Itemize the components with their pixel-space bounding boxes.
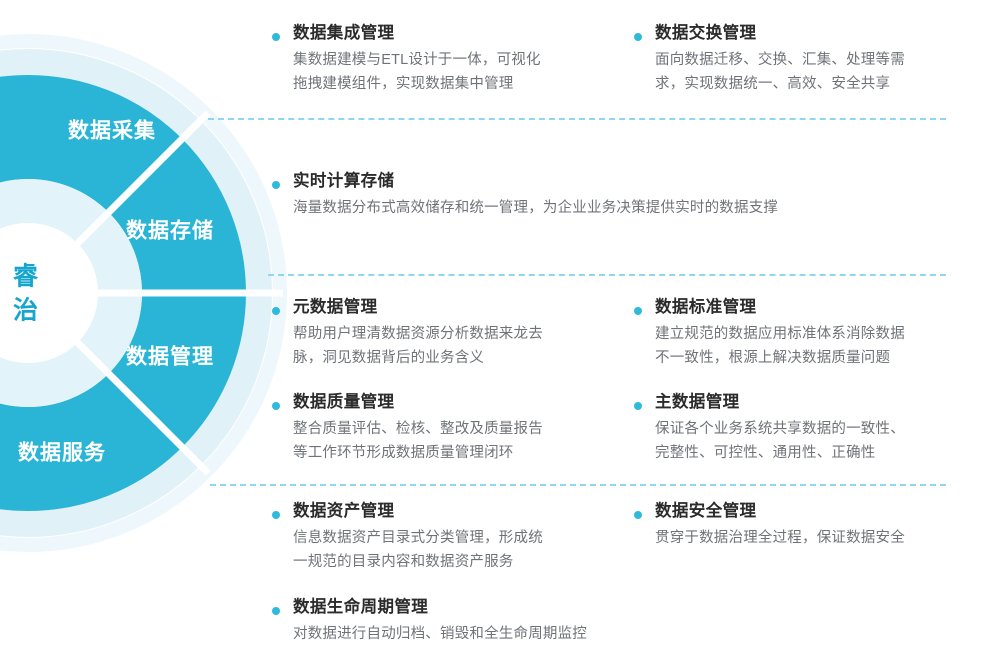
item-title: 主数据管理 — [655, 391, 984, 413]
item-description-line: 一规范的目录内容和数据资产服务 — [293, 551, 622, 574]
item-description: 集数据建模与ETL设计于一体，可视化 拖拽建模组件，实现数据集中管理 — [293, 49, 622, 96]
item-title: 数据集成管理 — [293, 22, 622, 44]
item-title: 数据生命周期管理 — [293, 596, 692, 618]
list-item: 数据安全管理 贯穿于数据治理全过程，保证数据安全 — [634, 500, 984, 551]
list-item: 数据资产管理 信息数据资产目录式分类管理，形成统 一规范的目录内容和数据资产服务 — [272, 500, 622, 574]
item-title: 数据标准管理 — [655, 296, 984, 318]
bullet-icon — [634, 307, 642, 315]
item-description-line: 集数据建模与ETL设计于一体，可视化 — [293, 49, 622, 72]
item-title: 数据交换管理 — [655, 22, 984, 44]
item-description-line: 保证各个业务系统共享数据的一致性、 — [655, 418, 984, 441]
item-title: 实时计算存储 — [293, 170, 972, 192]
list-item: 元数据管理 帮助用户理清数据资源分析数据来龙去 脉，洞见数据背后的业务含义 — [272, 296, 622, 370]
section-divider — [268, 274, 946, 276]
section-divider — [210, 484, 946, 486]
item-description: 保证各个业务系统共享数据的一致性、 完整性、可控性、通用性、正确性 — [655, 418, 984, 465]
item-description-line: 信息数据资产目录式分类管理，形成统 — [293, 527, 622, 550]
item-description: 海量数据分布式高效储存和统一管理，为企业业务决策提供实时的数据支撑 — [293, 197, 972, 220]
list-item: 数据交换管理 面向数据迁移、交换、汇集、处理等需 求，实现数据统一、高效、安全共… — [634, 22, 984, 96]
bullet-icon — [634, 33, 642, 41]
bullet-icon — [634, 402, 642, 410]
item-description-line: 等工作环节形成数据质量管理闭环 — [293, 442, 622, 465]
item-description: 贯穿于数据治理全过程，保证数据安全 — [655, 527, 984, 550]
item-description-line: 完整性、可控性、通用性、正确性 — [655, 442, 984, 465]
list-item: 数据标准管理 建立规范的数据应用标准体系消除数据 不一致性，根源上解决数据质量问… — [634, 296, 984, 370]
item-description-line: 整合质量评估、检核、整改及质量报告 — [293, 418, 622, 441]
item-description-line: 求，实现数据统一、高效、安全共享 — [655, 73, 984, 96]
item-description: 对数据进行自动归档、销毁和全生命周期监控 — [293, 623, 692, 646]
item-title: 数据安全管理 — [655, 500, 984, 522]
bullet-icon — [272, 607, 280, 615]
item-description-line: 脉，洞见数据背后的业务含义 — [293, 347, 622, 370]
list-item: 数据质量管理 整合质量评估、检核、整改及质量报告 等工作环节形成数据质量管理闭环 — [272, 391, 622, 465]
bullet-icon — [272, 307, 280, 315]
item-description-line: 帮助用户理清数据资源分析数据来龙去 — [293, 323, 622, 346]
item-title: 数据质量管理 — [293, 391, 622, 413]
item-description: 整合质量评估、检核、整改及质量报告 等工作环节形成数据质量管理闭环 — [293, 418, 622, 465]
item-description-line: 贯穿于数据治理全过程，保证数据安全 — [655, 527, 984, 550]
item-description: 帮助用户理清数据资源分析数据来龙去 脉，洞见数据背后的业务含义 — [293, 323, 622, 370]
bullet-icon — [272, 181, 280, 189]
bullet-icon — [272, 511, 280, 519]
item-title: 数据资产管理 — [293, 500, 622, 522]
item-description: 面向数据迁移、交换、汇集、处理等需 求，实现数据统一、高效、安全共享 — [655, 49, 984, 96]
bullet-icon — [272, 402, 280, 410]
item-description-line: 不一致性，根源上解决数据质量问题 — [655, 347, 984, 370]
bullet-icon — [634, 511, 642, 519]
item-description: 信息数据资产目录式分类管理，形成统 一规范的目录内容和数据资产服务 — [293, 527, 622, 574]
item-description-line: 建立规范的数据应用标准体系消除数据 — [655, 323, 984, 346]
list-item: 数据生命周期管理 对数据进行自动归档、销毁和全生命周期监控 — [272, 596, 692, 647]
section-divider — [208, 118, 946, 120]
list-item: 数据集成管理 集数据建模与ETL设计于一体，可视化 拖拽建模组件，实现数据集中管… — [272, 22, 622, 96]
bullet-icon — [272, 33, 280, 41]
item-description-line: 拖拽建模组件，实现数据集中管理 — [293, 73, 622, 96]
item-description-line: 面向数据迁移、交换、汇集、处理等需 — [655, 49, 984, 72]
list-item: 实时计算存储 海量数据分布式高效储存和统一管理，为企业业务决策提供实时的数据支撑 — [272, 170, 972, 221]
item-description-line: 对数据进行自动归档、销毁和全生命周期监控 — [293, 623, 692, 646]
list-item: 主数据管理 保证各个业务系统共享数据的一致性、 完整性、可控性、通用性、正确性 — [634, 391, 984, 465]
item-title: 元数据管理 — [293, 296, 622, 318]
item-description-line: 海量数据分布式高效储存和统一管理，为企业业务决策提供实时的数据支撑 — [293, 197, 972, 220]
item-description: 建立规范的数据应用标准体系消除数据 不一致性，根源上解决数据质量问题 — [655, 323, 984, 370]
